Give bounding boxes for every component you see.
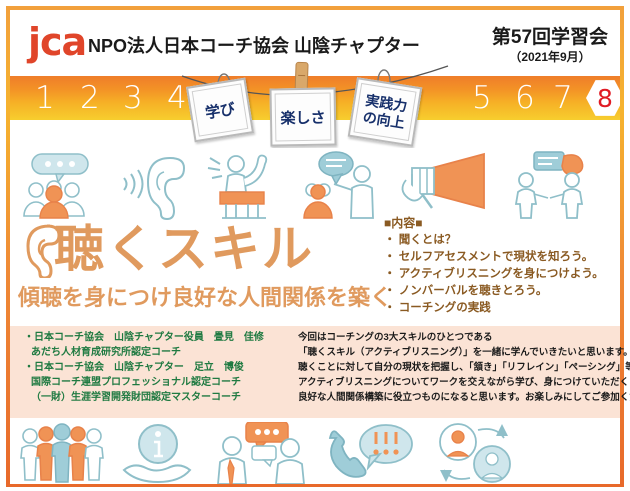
edition-title: 第57回学習会 (480, 26, 620, 49)
organization-name: NPO法人日本コーチ協会 山陰チャプター (88, 32, 420, 58)
description-line: 良好な人間関係構築に役立つものになると思います。お楽しみにしてご参加ください！ (298, 390, 620, 405)
person-exchange-icon (428, 422, 520, 484)
description-text: 今回はコーチングの3大スキルのひとつである 「聴くスキル（アクティブリスニング）… (298, 330, 620, 405)
group-speech-bubble-icon (16, 150, 108, 220)
session-number-2: 2 (80, 79, 100, 117)
phone-speech-bubble-icon (324, 422, 416, 484)
description-line: 「聴くスキル（アクティブリスニング）」を一緒に学んでいきたいと思います。 (298, 345, 620, 360)
main-title-block: 聴くスキル 傾聴を身につけ良好な人間関係を築く (14, 218, 374, 322)
session-number-1: 1 (35, 79, 55, 117)
current-session-number: 8 (586, 79, 620, 117)
session-number-5: 5 (472, 79, 492, 117)
content-item: ・ アクティブリスニングを身につけよう。 (384, 266, 624, 283)
people-group-icon (16, 422, 108, 484)
description-line: 聴くことに対して自分の現状を把握し、「頷き」「リフレイン」「ペーシング」等 (298, 360, 620, 375)
value-card-fun-label: 楽しさ (275, 93, 332, 142)
value-card-fun: 楽しさ (269, 87, 336, 146)
content-item: ・ ノンバーバルを聴きとろう。 (384, 283, 624, 300)
illustration-row (10, 420, 620, 484)
content-item: ・ コーチングの実践 (384, 300, 624, 317)
content-item: ・ 聞くとは？ (384, 232, 624, 249)
session-number-6: 6 (515, 79, 535, 117)
content-section: ■内容■ ・ 聞くとは？ ・ セルフアセスメントで現状を知ろう。 ・ アクティブ… (384, 214, 624, 317)
session-number-7: 7 (553, 79, 573, 117)
info-on-hand-icon (120, 422, 200, 484)
info-panel: ・日本コーチ協会 山陰チャプター役員 畳見 佳修 あだち人材育成研究所認定コーチ… (10, 326, 620, 418)
subtitle-text: 傾聴を身につけ良好な人間関係を築く (18, 284, 374, 312)
megaphone-icon (396, 150, 492, 220)
poster-root: jca NPO法人日本コーチ協会 山陰チャプター 第57回学習会 （2021年9… (0, 0, 630, 491)
hanging-cards-group: 学び 楽しさ 実践力の向上 (180, 58, 450, 146)
session-number-3: 3 (123, 79, 143, 117)
description-line: アクティブリスニングについてワークを交えながら学び、身につけていただくことで、 (298, 375, 620, 390)
conversation-icon (212, 422, 312, 484)
content-heading: ■内容■ (384, 214, 624, 232)
two-people-talking-icon (504, 150, 600, 220)
value-card-learning: 学び (186, 78, 254, 143)
content-item: ・ セルフアセスメントで現状を知ろう。 (384, 249, 624, 266)
current-session-badge: 8 (586, 79, 620, 117)
illustration-band-middle (10, 148, 620, 220)
presenter-line: ・日本コーチ協会 山陰チャプター役員 畳見 佳修 (24, 330, 294, 345)
presenter-line: 国際コーチ連盟プロフェッショナル認定コーチ (24, 375, 294, 390)
presenters-list: ・日本コーチ協会 山陰チャプター役員 畳見 佳修 あだち人材育成研究所認定コーチ… (24, 330, 294, 405)
value-card-practice: 実践力の向上 (348, 77, 423, 147)
presenter-line: ・日本コーチ協会 山陰チャプター 足立 博俊 (24, 360, 294, 375)
edition-block: 第57回学習会 （2021年9月） (480, 26, 620, 65)
edition-date: （2021年9月） (480, 49, 620, 65)
presenter-line: あだち人材育成研究所認定コーチ (24, 345, 294, 360)
speaker-to-audience-icon (298, 150, 384, 220)
illustration-row (10, 148, 620, 220)
value-card-learning-label: 学び (192, 83, 249, 136)
main-title-text: 聴くスキル (14, 218, 414, 282)
presenter-line: （一財）生涯学習開発財団認定マスターコーチ (24, 390, 294, 405)
podium-speaker-icon (204, 150, 286, 220)
jca-logo: jca (28, 20, 86, 64)
ear-listening-icon (120, 150, 192, 220)
illustration-band-bottom (10, 420, 620, 484)
value-card-practice-label: 実践力の向上 (353, 83, 416, 141)
description-line: 今回はコーチングの3大スキルのひとつである (298, 330, 620, 345)
